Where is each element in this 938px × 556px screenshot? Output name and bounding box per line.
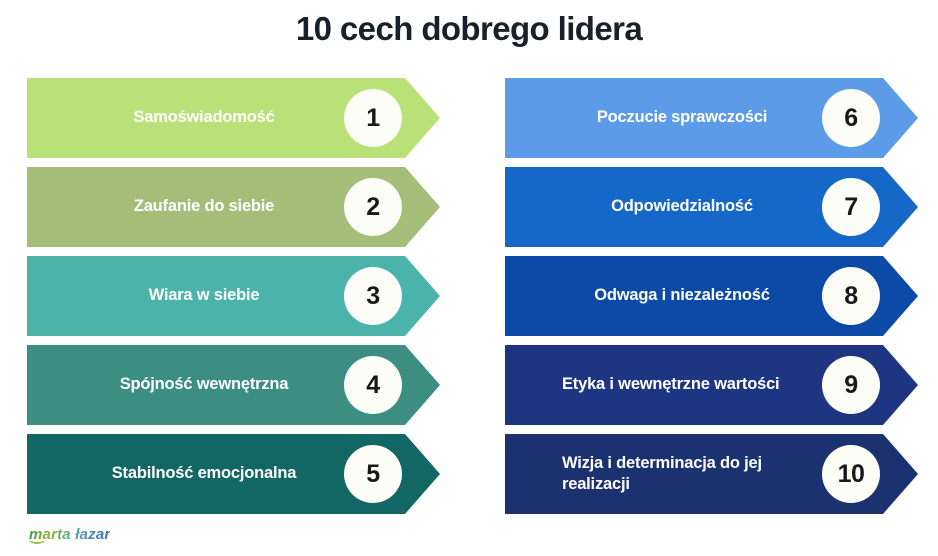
left-column: Samoświadomość1Zaufanie do siebie2Wiara …	[27, 78, 440, 523]
arrow-item-7[interactable]: Odpowiedzialność7	[505, 167, 918, 247]
arrow-item-number: 3	[344, 267, 402, 325]
arrow-item-number: 5	[344, 445, 402, 503]
arrow-item-2[interactable]: Zaufanie do siebie2	[27, 167, 440, 247]
arrow-item-number: 8	[822, 267, 880, 325]
arrow-item-8[interactable]: Odwaga i niezależność8	[505, 256, 918, 336]
arrow-item-4[interactable]: Spójność wewnętrzna4	[27, 345, 440, 425]
arrow-item-number: 7	[822, 178, 880, 236]
arrow-item-number: 4	[344, 356, 402, 414]
page-title: 10 cech dobrego lidera	[0, 10, 938, 48]
arrow-item-10[interactable]: Wizja i determinacja do jej realizacji10	[505, 434, 918, 514]
arrow-item-1[interactable]: Samoświadomość1	[27, 78, 440, 158]
arrow-item-number: 1	[344, 89, 402, 147]
arrow-item-9[interactable]: Etyka i wewnętrzne wartości9	[505, 345, 918, 425]
arrow-item-number: 10	[822, 445, 880, 503]
arrow-item-number: 2	[344, 178, 402, 236]
right-column: Poczucie sprawczości6Odpowiedzialność7Od…	[505, 78, 918, 523]
brand-logo: marta łazar	[29, 526, 110, 543]
arrow-item-3[interactable]: Wiara w siebie3	[27, 256, 440, 336]
arrow-item-number: 6	[822, 89, 880, 147]
arrow-item-6[interactable]: Poczucie sprawczości6	[505, 78, 918, 158]
infographic-canvas: 10 cech dobrego lidera Samoświadomość1Za…	[0, 0, 938, 556]
arrow-item-5[interactable]: Stabilność emocjonalna5	[27, 434, 440, 514]
arrow-item-number: 9	[822, 356, 880, 414]
